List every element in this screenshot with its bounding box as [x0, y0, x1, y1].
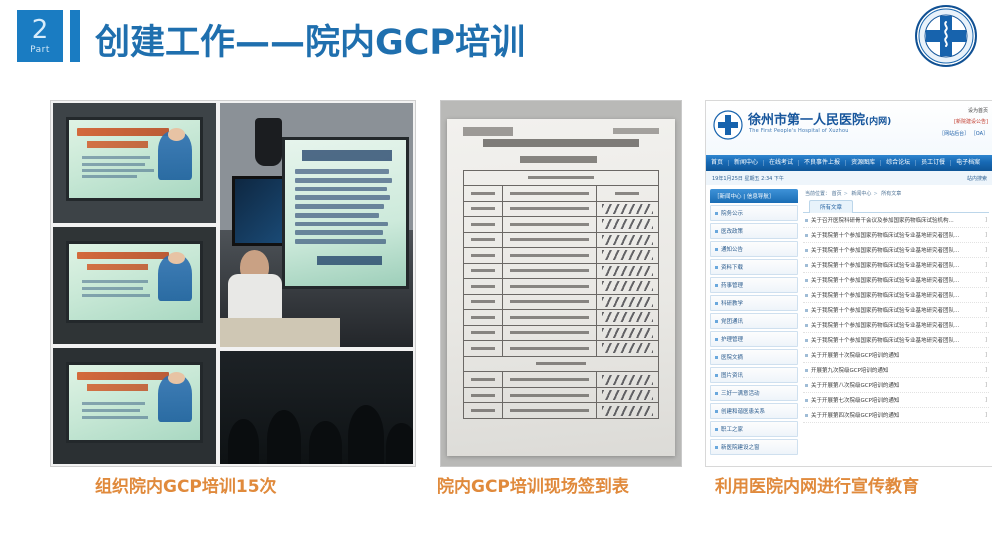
bullet-icon [715, 248, 718, 251]
bullet-icon [805, 324, 808, 327]
doc-stamp [463, 127, 513, 135]
doc-subtitle [520, 156, 598, 163]
breadcrumb-label: 当前位置： [805, 191, 830, 197]
table-row [463, 217, 658, 233]
list-item[interactable]: 关于我院第十个参加国家药物临床试验专业基地研究者团队...] [803, 243, 989, 258]
bullet-icon [805, 339, 808, 342]
intranet-hospital-emblem-icon [713, 110, 743, 140]
list-item[interactable]: 关于我院第十个参加国家药物临床试验专业基地研究者团队...] [803, 258, 989, 273]
table-row [463, 248, 658, 264]
intranet-hospital-name-en: The First People's Hospital of Xuzhou [749, 128, 849, 134]
part-label: Part [30, 46, 50, 55]
tab-all-articles[interactable]: 所有文章 [809, 200, 853, 213]
sidebar-item-digest[interactable]: 医院文摘 [710, 349, 798, 365]
caption-middle: 院内GCP培训现场签到表 [437, 472, 629, 497]
sidebar-item-relations[interactable]: 创建和谐医患关系 [710, 403, 798, 419]
hospital-intranet-screenshot: 徐州市第一人民医院(内网) The First People's Hospita… [705, 100, 992, 467]
nav-item-meal[interactable]: 员工订餐 [916, 160, 951, 166]
bullet-icon [805, 399, 808, 402]
bullet-icon [715, 356, 718, 359]
bullet-icon [715, 302, 718, 305]
sign-in-sheet-photo [440, 100, 682, 467]
list-item[interactable]: 关于开展第四次院级GCP培训的通知] [803, 408, 989, 423]
nav-item-exam[interactable]: 在线考试 [764, 160, 799, 166]
doc-date [613, 128, 659, 134]
breadcrumb: 当前位置： 首页> 新闻中心> 所有文章 [803, 189, 989, 200]
sidebar-item-policy[interactable]: 医改政策 [710, 223, 798, 239]
bullet-icon [805, 414, 808, 417]
table-row [463, 263, 658, 279]
bullet-icon [805, 264, 808, 267]
intranet-network-tag: (内网) [865, 117, 891, 127]
hospital-emblem-icon [914, 4, 978, 68]
photo-training-slide-1 [51, 101, 218, 225]
intranet-header: 徐州市第一人民医院(内网) The First People's Hospita… [706, 101, 992, 155]
nav-item-home[interactable]: 首页 [706, 160, 729, 166]
table-row [463, 387, 658, 403]
intranet-announcement-link[interactable]: [新院建设公告] [954, 118, 988, 125]
list-item[interactable]: 关于我院第十个参加国家药物临床试验专业基地研究者团队...] [803, 273, 989, 288]
part-number: 2 [32, 17, 49, 43]
nav-item-archive[interactable]: 电子档案 [951, 160, 985, 166]
intranet-site-search-link[interactable]: 站内搜索 [967, 175, 987, 182]
sidebar-item-notice[interactable]: 通知公告 [710, 241, 798, 257]
bullet-icon [715, 338, 718, 341]
page-title: 创建工作——院内GCP培训 [95, 14, 525, 65]
table-row [463, 372, 658, 388]
gcp-training-photo-collage [50, 100, 416, 467]
list-item[interactable]: 关于召开医院科研骨干会议及参加国家药物临床试验机构...] [803, 213, 989, 228]
article-list: 关于召开医院科研骨干会议及参加国家药物临床试验机构...] 关于我院第十个参加国… [803, 213, 989, 423]
bullet-icon [805, 384, 808, 387]
table-row [463, 310, 658, 326]
sidebar-item-newbuild[interactable]: 新医院建设之窗 [710, 439, 798, 455]
nav-item-news[interactable]: 新闻中心 [729, 160, 764, 166]
list-item[interactable]: 关于我院第十个参加国家药物临床试验专业基地研究者团队...] [803, 288, 989, 303]
intranet-main-content: 当前位置： 首页> 新闻中心> 所有文章 所有文章 关于召开医院科研骨干会议及参… [803, 189, 989, 466]
table-row [463, 403, 658, 419]
title-accent-bar [70, 10, 80, 62]
photo-audience [218, 349, 415, 466]
table-header-row [463, 186, 658, 202]
nav-item-incident[interactable]: 不良事件上报 [799, 160, 846, 166]
bullet-icon [805, 249, 808, 252]
intranet-hospital-name: 徐州市第一人民医院(内网) [748, 109, 891, 128]
slide-header: 2 Part 创建工作——院内GCP培训 [0, 0, 992, 90]
sidebar-item-nursing[interactable]: 护理管理 [710, 331, 798, 347]
sidebar-header: ［新闻中心 | 信息导航］ [710, 189, 798, 203]
tab-bar: 所有文章 [803, 200, 989, 213]
table-row [463, 325, 658, 341]
table-section-header [463, 170, 658, 186]
caption-right: 利用医院内网进行宣传教育 [715, 472, 919, 497]
list-item[interactable]: 关于开展第八次院级GCP培训的通知] [803, 378, 989, 393]
bullet-icon [715, 320, 718, 323]
bullet-icon [715, 212, 718, 215]
table-row [463, 279, 658, 295]
doc-title [483, 139, 638, 147]
bullet-icon [805, 294, 808, 297]
bullet-icon [805, 279, 808, 282]
sidebar-item-party[interactable]: 党团通讯 [710, 313, 798, 329]
table-row [463, 294, 658, 310]
bullet-icon [805, 234, 808, 237]
list-item[interactable]: 关于开展第十次院级GCP培训的通知] [803, 348, 989, 363]
sidebar-item-photos[interactable]: 图片资讯 [710, 367, 798, 383]
list-item[interactable]: 开展第九次院级GCP培训的通知] [803, 363, 989, 378]
photo-lecture-room [218, 101, 415, 349]
table-row [463, 341, 658, 357]
sidebar-item-staff[interactable]: 职工之家 [710, 421, 798, 437]
breadcrumb-home[interactable]: 首页 [832, 191, 842, 197]
nav-item-resources[interactable]: 资源图库 [846, 160, 881, 166]
bullet-icon [715, 374, 718, 377]
bullet-icon [715, 428, 718, 431]
photo-training-slide-3 [51, 346, 218, 466]
intranet-nav-bar[interactable]: 首页 新闻中心 在线考试 不良事件上报 资源图库 综合论坛 员工订餐 电子档案 [706, 155, 992, 171]
nav-item-forum[interactable]: 综合论坛 [881, 160, 916, 166]
table-row [463, 232, 658, 248]
breadcrumb-news[interactable]: 新闻中心 [851, 191, 871, 197]
bullet-icon [715, 230, 718, 233]
intranet-current-date: 19年1月25日 星期五 2:34 下午 [712, 175, 784, 182]
table-row [463, 201, 658, 217]
sidebar-item-research[interactable]: 科研教学 [710, 295, 798, 311]
bullet-icon [805, 369, 808, 372]
bullet-icon [715, 446, 718, 449]
sidebar-item-affairs[interactable]: 院务公示 [710, 205, 798, 221]
part-number-badge: 2 Part [17, 10, 63, 62]
bullet-icon [805, 219, 808, 222]
photo-training-slide-2 [51, 225, 218, 345]
list-item[interactable]: 关于我院第十个参加国家药物临床试验专业基地研究者团队...] [803, 318, 989, 333]
sidebar-item-downloads[interactable]: 资料下载 [710, 259, 798, 275]
sidebar-item-campaign[interactable]: 三好一满意活动 [710, 385, 798, 401]
intranet-admin-links[interactable]: ［网站后台］ ［OA］ [939, 130, 988, 137]
sidebar-item-pharmacy[interactable]: 药事管理 [710, 277, 798, 293]
chevron-right-icon: > [844, 191, 848, 197]
breadcrumb-current: 所有文章 [881, 191, 901, 197]
intranet-date-bar: 19年1月25日 星期五 2:34 下午 站内搜索 [706, 171, 992, 185]
intranet-set-homepage-link[interactable]: 设为首页 [968, 107, 988, 114]
bullet-icon [805, 354, 808, 357]
bullet-icon [715, 392, 718, 395]
bullet-icon [715, 266, 718, 269]
list-item[interactable]: 关于开展第七次院级GCP培训的通知] [803, 393, 989, 408]
bullet-icon [715, 410, 718, 413]
list-item[interactable]: 关于我院第十个参加国家药物临床试验专业基地研究者团队...] [803, 228, 989, 243]
caption-left: 组织院内GCP培训15次 [95, 472, 277, 497]
list-item[interactable]: 关于我院第十个参加国家药物临床试验专业基地研究者团队...] [803, 303, 989, 318]
list-item[interactable]: 关于我院第十个参加国家药物临床试验专业基地研究者团队...] [803, 333, 989, 348]
intranet-sidebar: ［新闻中心 | 信息导航］ 院务公示 医改政策 通知公告 资料下载 药事管理 科… [710, 189, 798, 466]
bullet-icon [715, 284, 718, 287]
chevron-right-icon: > [873, 191, 877, 197]
bullet-icon [805, 309, 808, 312]
sign-in-table [463, 170, 659, 419]
table-section-header [463, 356, 658, 372]
